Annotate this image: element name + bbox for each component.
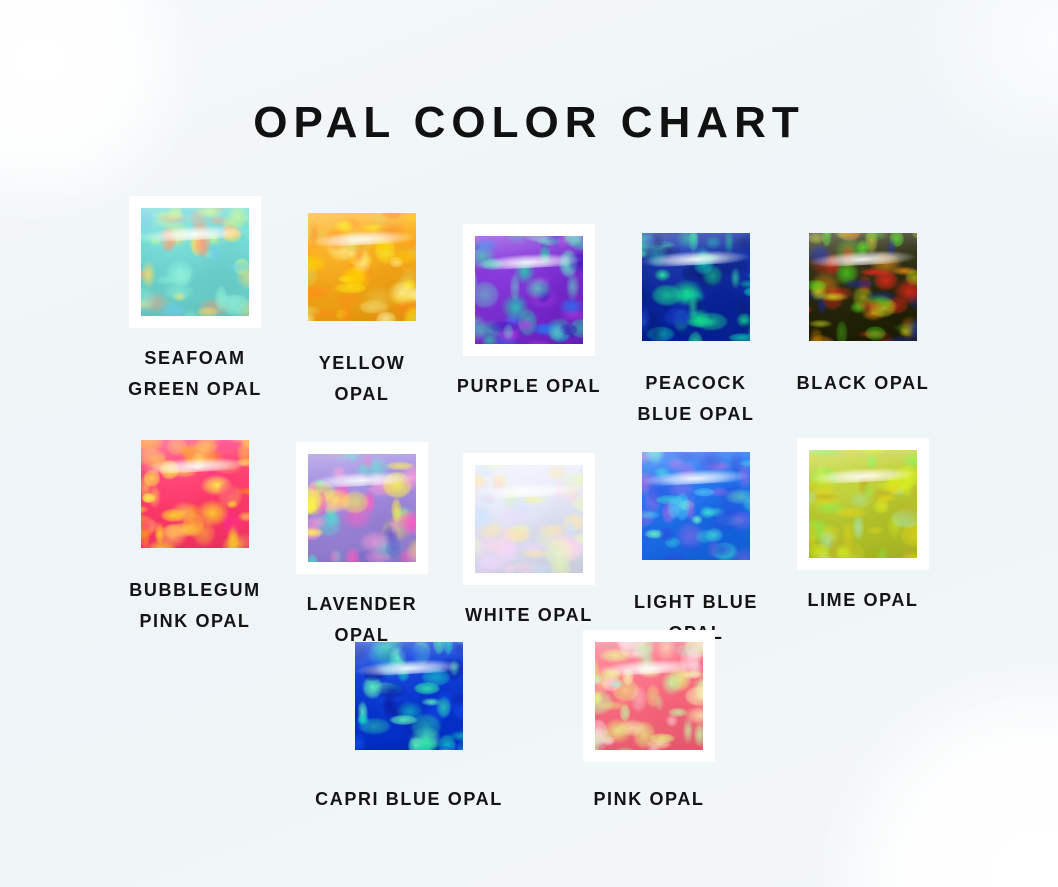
color-swatch-pink-opal[interactable] [595,642,703,750]
swatch-label-black-opal: BLACK OPAL [797,368,930,399]
swatch-card-lime-opal [797,438,929,570]
opal-flake-texture [141,440,249,548]
swatch-cell-bubblegum-pink-opal[interactable]: BUBBLEGUM PINK OPAL [112,428,279,637]
color-swatch-lavender-opal[interactable] [308,454,416,562]
swatch-cell-yellow-opal[interactable]: YELLOW OPAL [279,196,446,410]
color-swatch-lime-opal[interactable] [809,450,917,558]
color-swatch-light-blue-opal[interactable] [642,452,750,560]
page-title: OPAL COLOR CHART [0,101,1058,145]
swatch-card-lavender-opal [296,442,428,574]
swatch-label-purple-opal: PURPLE OPAL [457,371,601,402]
swatch-card-black-opal [797,221,929,353]
swatch-cell-lavender-opal[interactable]: LAVENDER OPAL [279,428,446,651]
swatch-label-yellow-opal: YELLOW OPAL [319,348,406,410]
swatch-card-purple-opal [463,224,595,356]
swatch-cell-peacock-blue-opal[interactable]: PEACOCK BLUE OPAL [613,196,780,430]
swatch-card-peacock-blue-opal [630,221,762,353]
swatch-cell-pink-opal[interactable]: PINK OPAL [529,630,769,815]
opal-flake-texture [308,213,416,321]
color-swatch-purple-opal[interactable] [475,236,583,344]
opal-flake-texture [475,236,583,344]
color-swatch-black-opal[interactable] [809,233,917,341]
opal-flake-texture [595,642,703,750]
color-swatch-bubblegum-pink-opal[interactable] [141,440,249,548]
swatch-row-2: BUBBLEGUM PINK OPALLAVENDER OPALWHITE OP… [0,428,1058,651]
swatch-cell-black-opal[interactable]: BLACK OPAL [780,196,947,399]
swatch-cell-purple-opal[interactable]: PURPLE OPAL [446,196,613,402]
swatch-row-1: SEAFOAM GREEN OPALYELLOW OPALPURPLE OPAL… [0,196,1058,430]
color-swatch-capri-blue-opal[interactable] [355,642,463,750]
swatch-card-yellow-opal [296,201,428,333]
swatch-label-lime-opal: LIME OPAL [807,585,918,616]
swatch-cell-seafoam-green-opal[interactable]: SEAFOAM GREEN OPAL [112,196,279,405]
opal-flake-texture [809,233,917,341]
swatch-label-peacock-blue-opal: PEACOCK BLUE OPAL [637,368,754,430]
swatch-label-capri-blue-opal: CAPRI BLUE OPAL [315,784,503,815]
opal-flake-texture [475,465,583,573]
opal-flake-texture [809,450,917,558]
swatch-card-seafoam-green-opal [129,196,261,328]
swatch-card-pink-opal [583,630,715,762]
swatch-card-capri-blue-opal [343,630,475,762]
opal-flake-texture [141,208,249,316]
swatch-row-3: CAPRI BLUE OPALPINK OPAL [0,630,1058,815]
opal-flake-texture [642,233,750,341]
color-swatch-peacock-blue-opal[interactable] [642,233,750,341]
swatch-card-bubblegum-pink-opal [129,428,261,560]
swatch-cell-white-opal[interactable]: WHITE OPAL [446,428,613,631]
swatch-card-white-opal [463,453,595,585]
color-swatch-yellow-opal[interactable] [308,213,416,321]
swatch-card-light-blue-opal [630,440,762,572]
swatch-cell-capri-blue-opal[interactable]: CAPRI BLUE OPAL [289,630,529,815]
opal-flake-texture [355,642,463,750]
opal-flake-texture [308,454,416,562]
swatch-label-bubblegum-pink-opal: BUBBLEGUM PINK OPAL [129,575,260,637]
color-swatch-seafoam-green-opal[interactable] [141,208,249,316]
swatch-cell-light-blue-opal[interactable]: LIGHT BLUE OPAL [613,428,780,649]
swatch-label-seafoam-green-opal: SEAFOAM GREEN OPAL [128,343,262,405]
color-swatch-white-opal[interactable] [475,465,583,573]
opal-flake-texture [642,452,750,560]
swatch-label-white-opal: WHITE OPAL [465,600,593,631]
swatch-label-pink-opal: PINK OPAL [593,784,704,815]
swatch-cell-lime-opal[interactable]: LIME OPAL [780,428,947,616]
